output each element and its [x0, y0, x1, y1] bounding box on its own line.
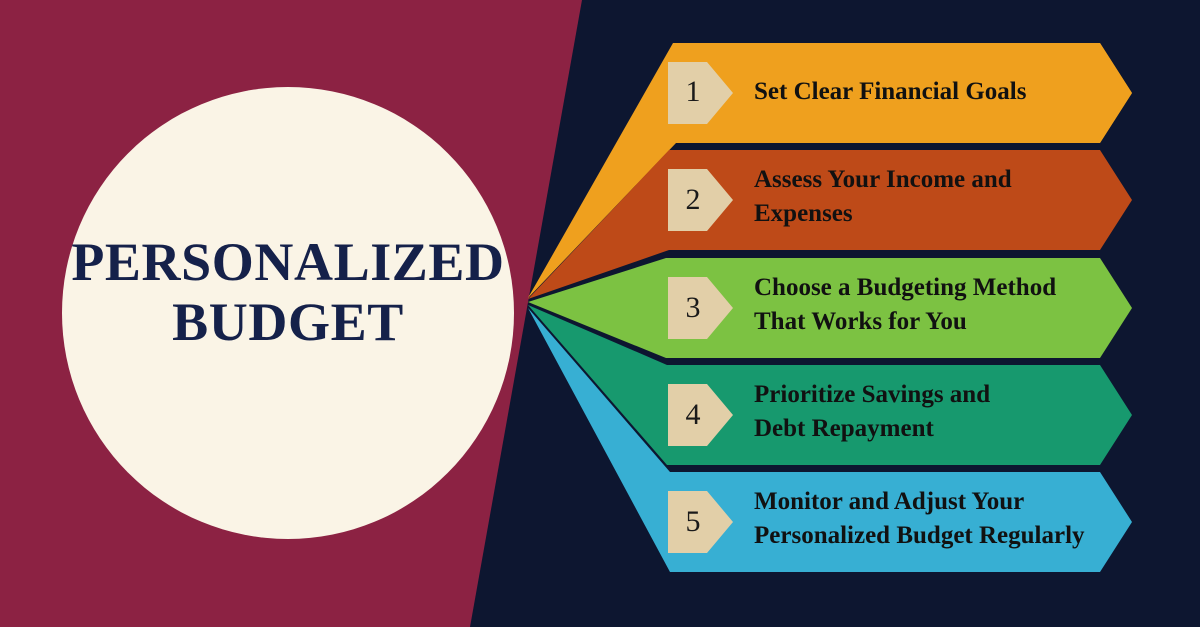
step-1-text: Set Clear Financial Goals [754, 75, 1154, 109]
step-3-number: 3 [672, 291, 714, 325]
step-5-text: Monitor and Adjust Your Personalized Bud… [754, 485, 1154, 553]
step-3-text: Choose a Budgeting Method That Works for… [754, 271, 1154, 339]
step-1-text-line-1: Set Clear Financial Goals [754, 75, 1154, 109]
step-2-text-line-2: Expenses [754, 197, 1154, 231]
infographic-canvas: PERSONALIZED BUDGET 1 Set Clear Financia… [0, 0, 1200, 627]
step-2-text: Assess Your Income and Expenses [754, 163, 1154, 231]
step-3-text-line-1: Choose a Budgeting Method [754, 271, 1154, 305]
step-1-number: 1 [672, 75, 714, 109]
step-3-text-line-2: That Works for You [754, 305, 1154, 339]
step-4-text-line-2: Debt Repayment [754, 412, 1154, 446]
step-labels-layer: 1 Set Clear Financial Goals 2 Assess You… [0, 0, 1200, 627]
step-4-text-line-1: Prioritize Savings and [754, 378, 1154, 412]
step-2-text-line-1: Assess Your Income and [754, 163, 1154, 197]
step-2-number: 2 [672, 183, 714, 217]
step-4-number: 4 [672, 398, 714, 432]
step-5-text-line-1: Monitor and Adjust Your [754, 485, 1154, 519]
step-4-text: Prioritize Savings and Debt Repayment [754, 378, 1154, 446]
step-5-number: 5 [672, 505, 714, 539]
step-5-text-line-2: Personalized Budget Regularly [754, 519, 1154, 553]
